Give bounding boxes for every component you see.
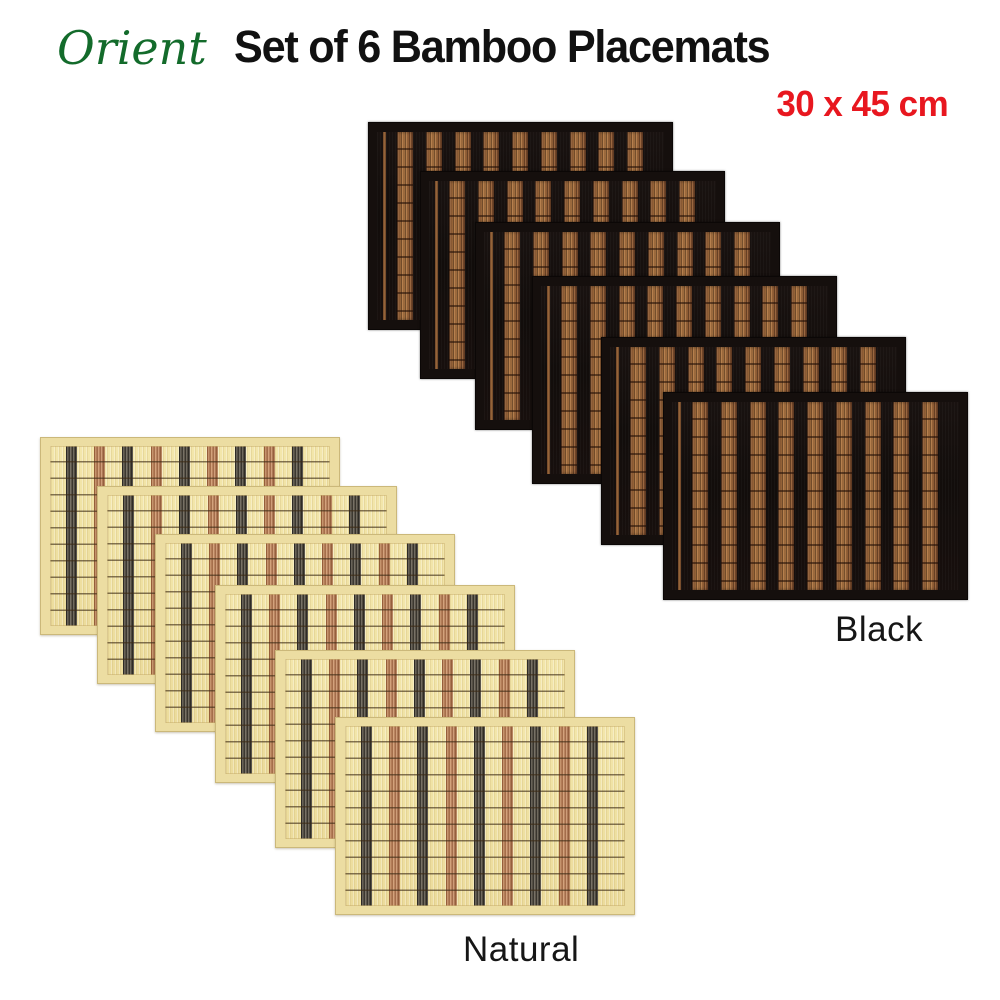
bamboo-stripe-dark bbox=[66, 446, 77, 626]
bamboo-stripe-dark bbox=[587, 726, 598, 906]
bamboo-stripe-dark bbox=[181, 543, 192, 723]
bamboo-accent-strip bbox=[435, 181, 438, 369]
product-image-canvas: Orient Set of 6 Bamboo Placemats 30 x 45… bbox=[0, 0, 1000, 1000]
bamboo-slat bbox=[561, 286, 577, 474]
bamboo-stripe-dark bbox=[417, 726, 428, 906]
bamboo-stripe-rust bbox=[446, 726, 457, 906]
mat-rim bbox=[345, 726, 625, 906]
bamboo-accent-strip bbox=[383, 132, 386, 320]
bamboo-stripe-dark bbox=[474, 726, 485, 906]
bamboo-slat bbox=[807, 402, 823, 590]
bamboo-slat bbox=[397, 132, 413, 320]
dimensions-badge: 30 x 45 cm bbox=[776, 86, 948, 122]
bamboo-stripe-rust bbox=[389, 726, 400, 906]
placemat-inner bbox=[336, 718, 634, 914]
header: Orient Set of 6 Bamboo Placemats 30 x 45… bbox=[0, 0, 1000, 130]
bamboo-slat bbox=[893, 402, 909, 590]
bamboo-stripe-dark bbox=[123, 495, 134, 675]
brand-name: Orient bbox=[57, 25, 207, 71]
placemat-inner bbox=[664, 393, 967, 599]
bamboo-slat bbox=[504, 232, 520, 420]
bamboo-stripe-dark bbox=[530, 726, 541, 906]
bamboo-slat bbox=[449, 181, 465, 369]
placemat-natural-6 bbox=[335, 717, 635, 915]
bamboo-stripe-rust bbox=[559, 726, 570, 906]
bamboo-slat bbox=[630, 347, 646, 535]
bamboo-slat bbox=[778, 402, 794, 590]
color-label-black: Black bbox=[835, 612, 923, 647]
bamboo-accent-strip bbox=[547, 286, 550, 474]
bamboo-accent-strip bbox=[678, 402, 681, 590]
bamboo-slat bbox=[750, 402, 766, 590]
bamboo-weave-field bbox=[345, 726, 625, 906]
color-label-natural: Natural bbox=[463, 932, 579, 967]
bamboo-slat bbox=[721, 402, 737, 590]
bamboo-stripe-rust bbox=[502, 726, 513, 906]
bamboo-accent-strip bbox=[490, 232, 493, 420]
bamboo-slat bbox=[922, 402, 938, 590]
bamboo-stripe-dark bbox=[361, 726, 372, 906]
bamboo-slat bbox=[865, 402, 881, 590]
placemat-black-6 bbox=[663, 392, 968, 600]
bamboo-stripe-dark bbox=[301, 659, 312, 839]
bamboo-accent-strip bbox=[616, 347, 619, 535]
bamboo-slat bbox=[836, 402, 852, 590]
bamboo-weave-field bbox=[672, 402, 959, 590]
page-title: Set of 6 Bamboo Placemats bbox=[234, 24, 769, 69]
binding-threads bbox=[345, 726, 625, 906]
bamboo-slat bbox=[692, 402, 708, 590]
bamboo-stripe-dark bbox=[241, 594, 252, 774]
